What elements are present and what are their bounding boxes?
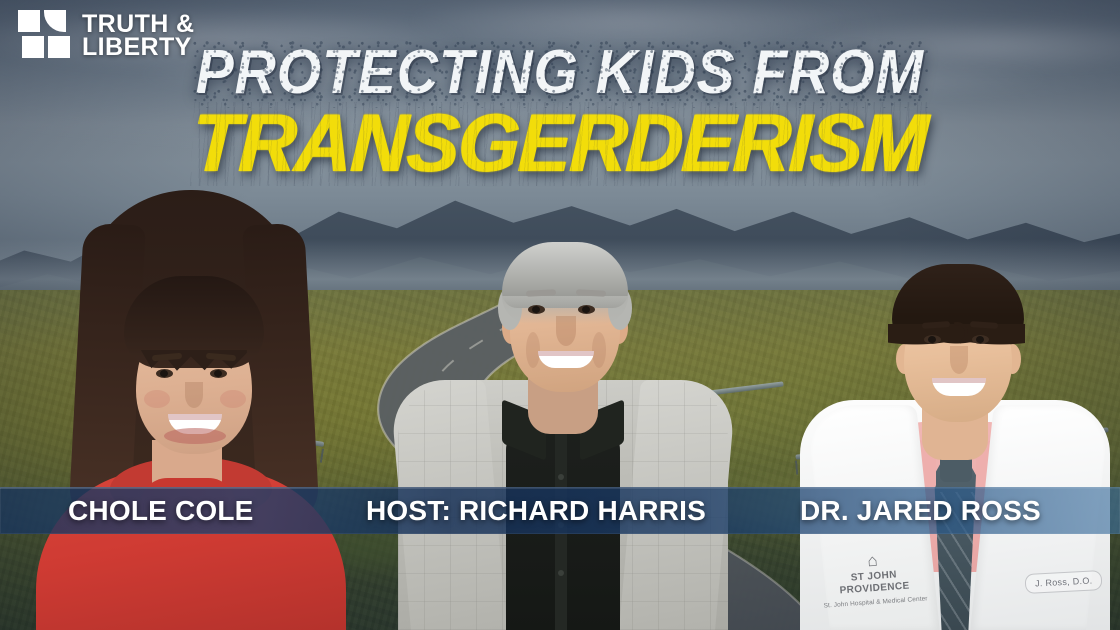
smile-line: [526, 332, 540, 368]
brand-line-2: LIBERTY: [82, 36, 195, 60]
shirt-button: [558, 474, 564, 480]
portrait-richard-harris: [398, 180, 728, 630]
shirt-button: [558, 570, 564, 576]
hospital-embroidery: ⌂ ST JOHN PROVIDENCE St. John Hospital &…: [812, 547, 936, 610]
lower-lip: [164, 428, 226, 444]
hair-bangs: [124, 276, 264, 368]
truth-and-liberty-logo[interactable]: TRUTH & LIBERTY: [18, 10, 195, 62]
brand-wordmark: TRUTH & LIBERTY: [82, 13, 195, 60]
cheek: [144, 390, 170, 408]
portrait-jared-ross: ⌂ ST JOHN PROVIDENCE St. John Hospital &…: [800, 180, 1110, 630]
mouth-smile: [538, 351, 594, 368]
eye: [528, 305, 545, 314]
video-thumbnail: TRUTH & LIBERTY PROTECTING KIDS FROM TRA…: [0, 0, 1120, 630]
gray-hair: [502, 242, 628, 308]
portrait-chole-cole: [44, 190, 344, 630]
name-label-host: HOST: RICHARD HARRIS: [366, 495, 706, 527]
cheek: [220, 390, 246, 408]
guest-portraits: ⌂ ST JOHN PROVIDENCE St. John Hospital &…: [0, 0, 1120, 630]
eye: [578, 305, 595, 314]
nose: [950, 346, 968, 374]
nose: [185, 382, 203, 408]
eye: [972, 335, 989, 344]
name-bar-top-edge: [0, 487, 1120, 489]
eye: [210, 369, 227, 378]
eye: [156, 369, 173, 378]
name-label-chole-cole: CHOLE COLE: [68, 495, 254, 527]
name-label-jared-ross: DR. JARED ROSS: [800, 495, 1041, 527]
doctor-name-badge: J. Ross, D.O.: [1024, 570, 1102, 594]
nose: [556, 316, 576, 346]
truth-liberty-blocks-icon: [18, 10, 70, 62]
name-bar: CHOLE COLE HOST: RICHARD HARRIS DR. JARE…: [0, 487, 1120, 534]
eye: [924, 335, 941, 344]
smile-line: [592, 332, 606, 368]
